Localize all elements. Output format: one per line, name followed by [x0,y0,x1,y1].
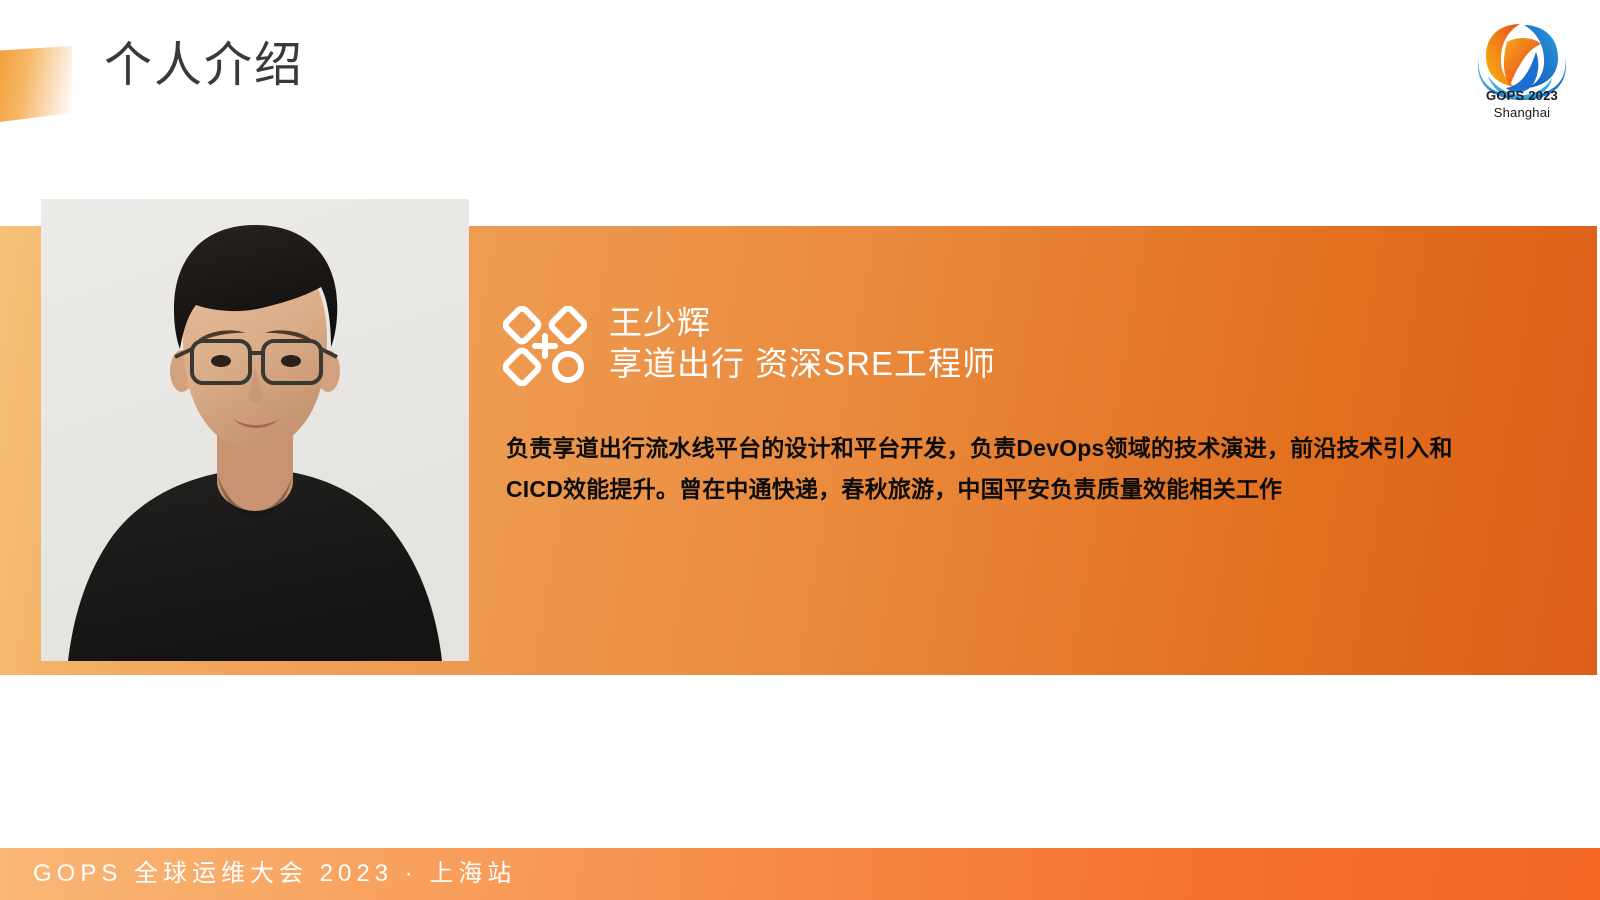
bio-line-2: CICD效能提升。曾在中通快递，春秋旅游，中国平安负责质量效能相关工作 [506,469,1466,510]
person-info: 王少辉 享道出行 资深SRE工程师 [609,303,996,385]
four-shapes-diamond-icon [503,306,587,386]
footer-text: GOPS 全球运维大会 2023 · 上海站 [33,860,516,888]
footer-bar: GOPS 全球运维大会 2023 · 上海站 [0,848,1600,900]
person-name: 王少辉 [609,303,996,343]
portrait-illustration [41,199,469,661]
logo-line-1: GOPS 2023 [1466,88,1578,103]
gops-logo: GOPS 2023 Shanghai [1466,16,1578,128]
header-decoration-shape [0,46,72,122]
person-bio: 负责享道出行流水线平台的设计和平台开发，负责DevOps领域的技术演进，前沿技术… [506,428,1466,510]
logo-line-2: Shanghai [1466,105,1578,120]
person-role: 享道出行 资深SRE工程师 [609,343,996,385]
bio-line-1: 负责享道出行流水线平台的设计和平台开发，负责DevOps领域的技术演进，前沿技术… [506,428,1466,469]
profile-photo [41,199,469,661]
page-title: 个人介绍 [104,42,304,90]
